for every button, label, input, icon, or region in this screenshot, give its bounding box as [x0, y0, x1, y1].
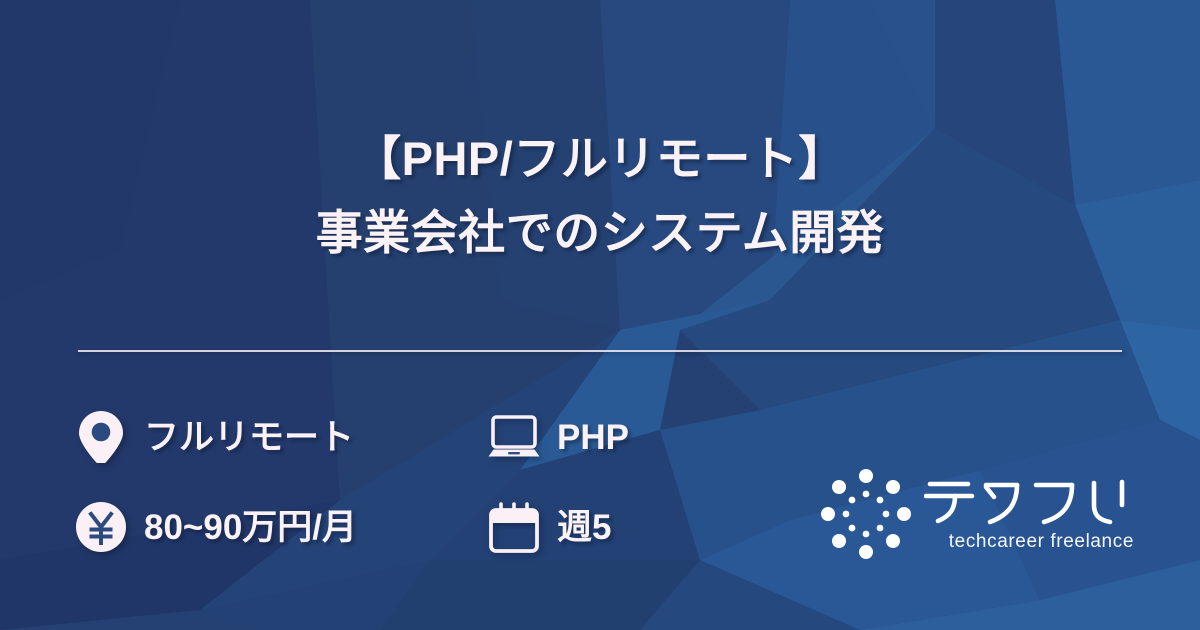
yen-circle-icon [72, 498, 130, 556]
detail-rate: 80~90万円/月 [72, 498, 485, 556]
detail-row: フルリモート PHP [72, 392, 832, 482]
detail-row: 80~90万円/月 [72, 482, 832, 572]
page-title: 【PHP/フルリモート】 事業会社でのシステム開発 [0, 122, 1200, 270]
location-pin-icon [72, 408, 130, 466]
brand-tagline: techcareer freelance [924, 531, 1134, 553]
title-line-1: 【PHP/フルリモート】 [0, 122, 1200, 196]
detail-days: 週5 [485, 498, 611, 556]
detail-skill-label: PHP [557, 420, 629, 455]
detail-work-style-label: フルリモート [144, 420, 354, 455]
job-posting-card: 【PHP/フルリモート】 事業会社でのシステム開発 フルリモート [0, 0, 1200, 630]
job-details: フルリモート PHP [72, 392, 832, 572]
dot-cluster-icon [818, 466, 914, 562]
calendar-icon [485, 498, 543, 556]
detail-work-style: フルリモート [72, 408, 485, 466]
brand-wordmark: テクフリ [924, 475, 1134, 553]
brand-name-jp: テクフリ [924, 475, 1134, 525]
divider [78, 350, 1122, 352]
detail-rate-label: 80~90万円/月 [144, 510, 357, 545]
brand-logo: テクフリ [818, 466, 1138, 562]
detail-skill: PHP [485, 408, 629, 466]
detail-days-label: 週5 [557, 510, 611, 545]
title-line-2: 事業会社でのシステム開発 [0, 196, 1200, 270]
laptop-icon [485, 408, 543, 466]
